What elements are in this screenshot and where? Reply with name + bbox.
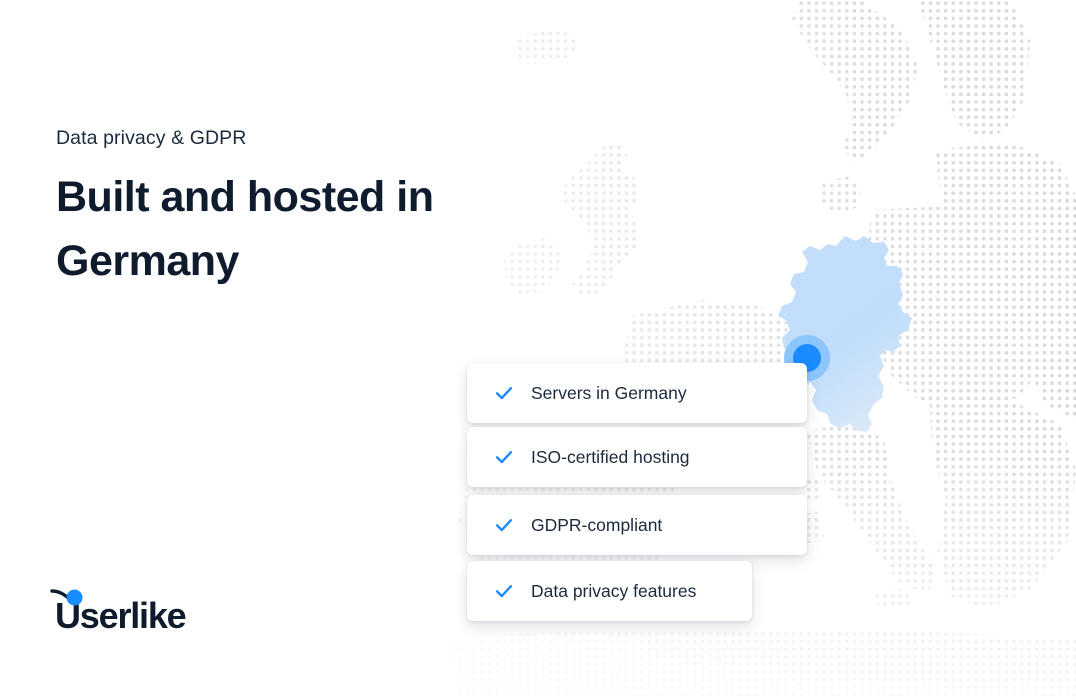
hero-banner: Data privacy & GDPR Built and hosted in … (0, 0, 1076, 700)
check-icon (493, 446, 515, 468)
list-item-label: Data privacy features (531, 580, 696, 602)
list-item[interactable]: Data privacy features (467, 561, 752, 621)
page-title: Built and hosted in Germany (56, 165, 526, 293)
check-icon (493, 580, 515, 602)
list-item[interactable]: Servers in Germany (467, 363, 807, 423)
userlike-dot-swoosh-icon (50, 588, 94, 614)
check-icon (493, 514, 515, 536)
list-item[interactable]: ISO-certified hosting (467, 427, 807, 487)
list-item-label: GDPR-compliant (531, 514, 662, 536)
list-item-label: ISO-certified hosting (531, 446, 690, 468)
list-item[interactable]: GDPR-compliant (467, 495, 807, 555)
eyebrow-label: Data privacy & GDPR (56, 125, 246, 151)
check-icon (493, 382, 515, 404)
userlike-logo[interactable]: Userlike (49, 588, 186, 636)
list-item-label: Servers in Germany (531, 382, 687, 404)
